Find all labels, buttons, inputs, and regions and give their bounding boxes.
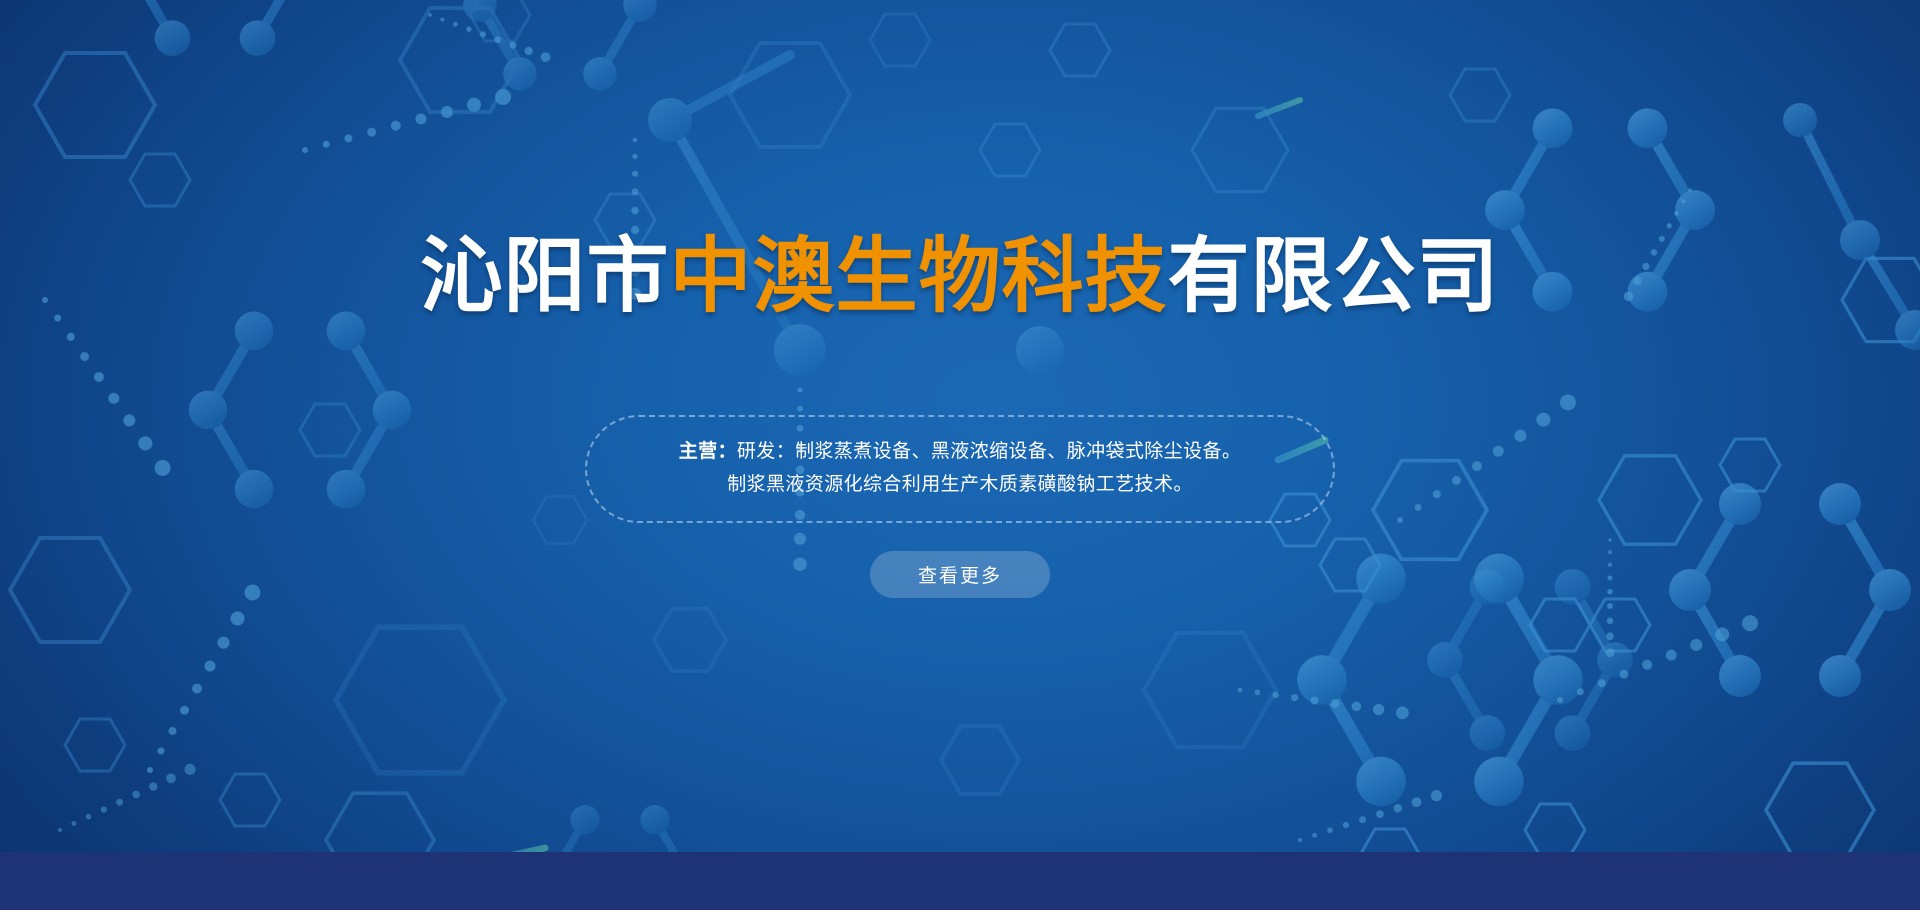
subtitle-line-1-text: 研发：制浆蒸煮设备、黑液浓缩设备、脉冲袋式除尘设备。 <box>737 441 1241 462</box>
view-more-button[interactable]: 查看更多 <box>870 551 1050 598</box>
page-title: 沁阳市中澳生物科技有限公司 <box>420 236 1499 318</box>
hero-banner: 沁阳市中澳生物科技有限公司 主营：研发：制浆蒸煮设备、黑液浓缩设备、脉冲袋式除尘… <box>0 0 1920 910</box>
subtitle-lead-label: 主营： <box>679 441 737 462</box>
subtitle-line-1: 主营：研发：制浆蒸煮设备、黑液浓缩设备、脉冲袋式除尘设备。 <box>627 435 1293 468</box>
title-segment-prefix: 沁阳市 <box>420 231 669 322</box>
title-segment-suffix: 有限公司 <box>1168 231 1500 322</box>
bottom-navy-bar <box>0 852 1920 910</box>
subtitle-dashed-box: 主营：研发：制浆蒸煮设备、黑液浓缩设备、脉冲袋式除尘设备。 制浆黑液资源化综合利… <box>585 415 1335 523</box>
title-segment-highlight: 中澳生物科技 <box>669 231 1167 322</box>
hero-content: 沁阳市中澳生物科技有限公司 主营：研发：制浆蒸煮设备、黑液浓缩设备、脉冲袋式除尘… <box>0 0 1920 852</box>
subtitle-line-2: 制浆黑液资源化综合利用生产木质素磺酸钠工艺技术。 <box>627 468 1293 501</box>
